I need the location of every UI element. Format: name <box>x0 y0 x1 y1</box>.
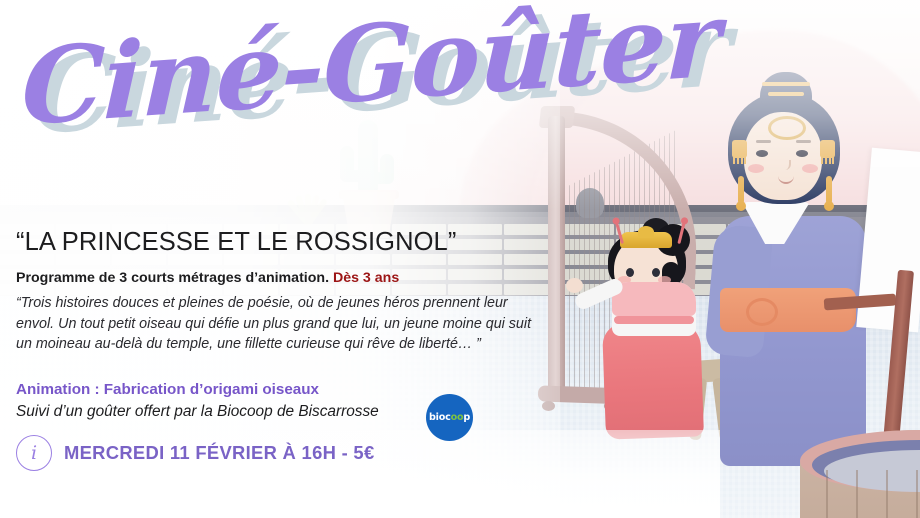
animation-line: Animation : Fabrication d’origami oiseau… <box>16 381 319 398</box>
hair-comb-left-icon <box>732 140 747 158</box>
basin-stave <box>856 470 858 518</box>
biocoop-logo: biocoop <box>426 394 473 441</box>
biocoop-logo-text: biocoop <box>429 412 470 423</box>
basin-stave <box>916 470 918 518</box>
synopsis-text: “Trois histoires douces et pleines de po… <box>16 293 532 355</box>
hair-comb-right-icon <box>820 140 835 158</box>
film-title: “LA PRINCESSE ET LE ROSSIGNOL” <box>16 228 456 257</box>
screening-date-price: MERCREDI 11 FÉVRIER À 16H - 5€ <box>64 442 375 464</box>
biocoop-logo-post: p <box>463 412 470 423</box>
info-icon: i <box>16 435 52 471</box>
basin-stave <box>826 470 828 518</box>
age-badge: Dès 3 ans <box>333 270 399 286</box>
poster-title: Ciné-Goûter Ciné-Goûter <box>22 28 622 178</box>
basin-stave <box>886 470 888 518</box>
biocoop-logo-pre: bioc <box>429 412 451 423</box>
biocoop-logo-oo: oo <box>451 412 464 423</box>
snack-line: Suivi d’un goûter offert par la Biocoop … <box>16 403 379 421</box>
cine-gouter-poster: Ciné-Goûter Ciné-Goûter “LA PRINCESSE ET… <box>0 0 920 518</box>
screening-info-row: i MERCREDI 11 FÉVRIER À 16H - 5€ <box>16 435 375 471</box>
programme-line: Programme de 3 courts métrages d’animati… <box>16 270 399 286</box>
programme-label: Programme de 3 courts métrages d’animati… <box>16 270 329 286</box>
